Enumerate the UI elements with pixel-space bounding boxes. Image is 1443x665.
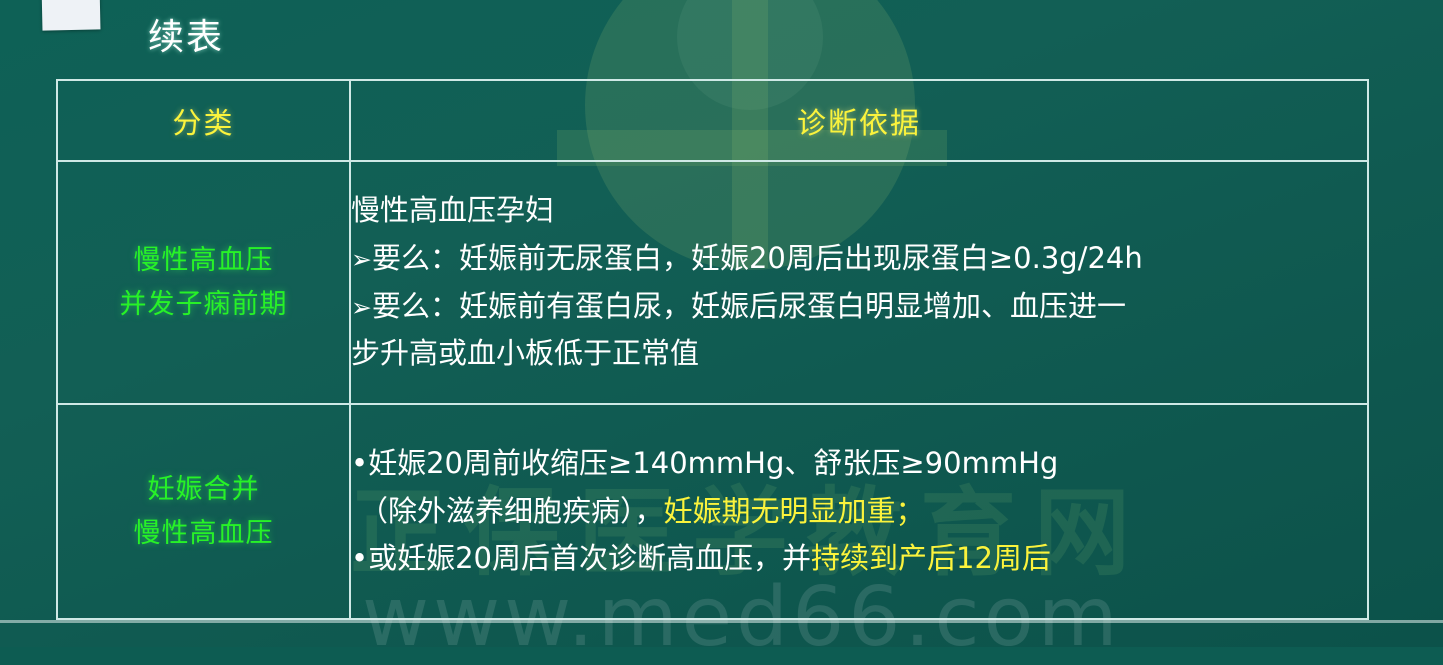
category-line: 慢性高血压	[58, 512, 349, 556]
basis-text-highlight: 妊娠期无明显加重；	[664, 494, 925, 528]
bullet-arrow-icon: ➢	[351, 245, 372, 274]
header-cell-basis: 诊断依据	[350, 80, 1368, 161]
table-row: 慢性高血压 并发子痫前期 慢性高血压孕妇 ➢要么：妊娠前无尿蛋白，妊娠20周后出…	[57, 161, 1368, 404]
bullet-dot-icon: •	[351, 446, 368, 480]
basis-cell-pregnancy-with-chronic-ht: •妊娠20周前收缩压≥140mmHg、舒张压≥90mmHg （除外滋养细胞疾病）…	[350, 404, 1368, 619]
table-body: 分类 诊断依据 慢性高血压 并发子痫前期 慢性高血压孕妇 ➢要么：妊娠前无尿蛋白…	[57, 80, 1368, 619]
diagnosis-table: 分类 诊断依据 慢性高血压 并发子痫前期 慢性高血压孕妇 ➢要么：妊娠前无尿蛋白…	[56, 79, 1369, 620]
basis-text: 步升高或血小板低于正常值	[351, 336, 699, 370]
basis-text: 或妊娠20周后首次诊断高血压，并	[368, 541, 811, 575]
category-line: 慢性高血压	[58, 239, 349, 283]
header-label-basis: 诊断依据	[797, 106, 921, 140]
basis-text: 要么：妊娠前有蛋白尿，妊娠后尿蛋白明显增加、血压进一	[372, 289, 1126, 323]
category-cell-chronic-ht-preeclampsia: 慢性高血压 并发子痫前期	[57, 161, 350, 404]
basis-line: 慢性高血压孕妇	[351, 187, 1367, 235]
basis-text: （除外滋养细胞疾病），	[359, 494, 664, 528]
table-row: 妊娠合并 慢性高血压 •妊娠20周前收缩压≥140mmHg、舒张压≥90mmHg…	[57, 404, 1368, 619]
category-line: 妊娠合并	[58, 468, 349, 512]
category-line: 并发子痫前期	[58, 283, 349, 327]
bullet-arrow-icon: ➢	[351, 293, 372, 322]
basis-line: •妊娠20周前收缩压≥140mmHg、舒张压≥90mmHg	[351, 440, 1367, 488]
basis-line: •或妊娠20周后首次诊断高血压，并持续到产后12周后	[351, 535, 1367, 583]
basis-text: 慢性高血压孕妇	[351, 193, 554, 227]
category-cell-pregnancy-with-chronic-ht: 妊娠合并 慢性高血压	[57, 404, 350, 619]
basis-text: 妊娠20周前收缩压≥140mmHg、舒张压≥90mmHg	[368, 446, 1058, 480]
table-header-row: 分类 诊断依据	[57, 80, 1368, 161]
document-icon	[42, 0, 101, 31]
basis-line: 步升高或血小板低于正常值	[351, 330, 1367, 378]
header-label-category: 分类	[172, 106, 234, 140]
basis-line: ➢要么：妊娠前有蛋白尿，妊娠后尿蛋白明显增加、血压进一	[351, 283, 1367, 331]
bottom-divider	[0, 620, 1443, 623]
header-cell-category: 分类	[57, 80, 350, 161]
basis-text: 要么：妊娠前无尿蛋白，妊娠20周后出现尿蛋白≥0.3g/24h	[372, 241, 1143, 275]
basis-cell-chronic-ht-preeclampsia: 慢性高血压孕妇 ➢要么：妊娠前无尿蛋白，妊娠20周后出现尿蛋白≥0.3g/24h…	[350, 161, 1368, 404]
bullet-dot-icon: •	[351, 541, 368, 575]
slide-root: { "slide": { "title": "续表", "corner_icon…	[0, 0, 1443, 647]
basis-line: ➢要么：妊娠前无尿蛋白，妊娠20周后出现尿蛋白≥0.3g/24h	[351, 235, 1367, 283]
page-title: 续表	[148, 8, 224, 60]
basis-text-highlight: 持续到产后12周后	[811, 541, 1051, 575]
basis-line: （除外滋养细胞疾病），妊娠期无明显加重；	[351, 488, 1367, 536]
